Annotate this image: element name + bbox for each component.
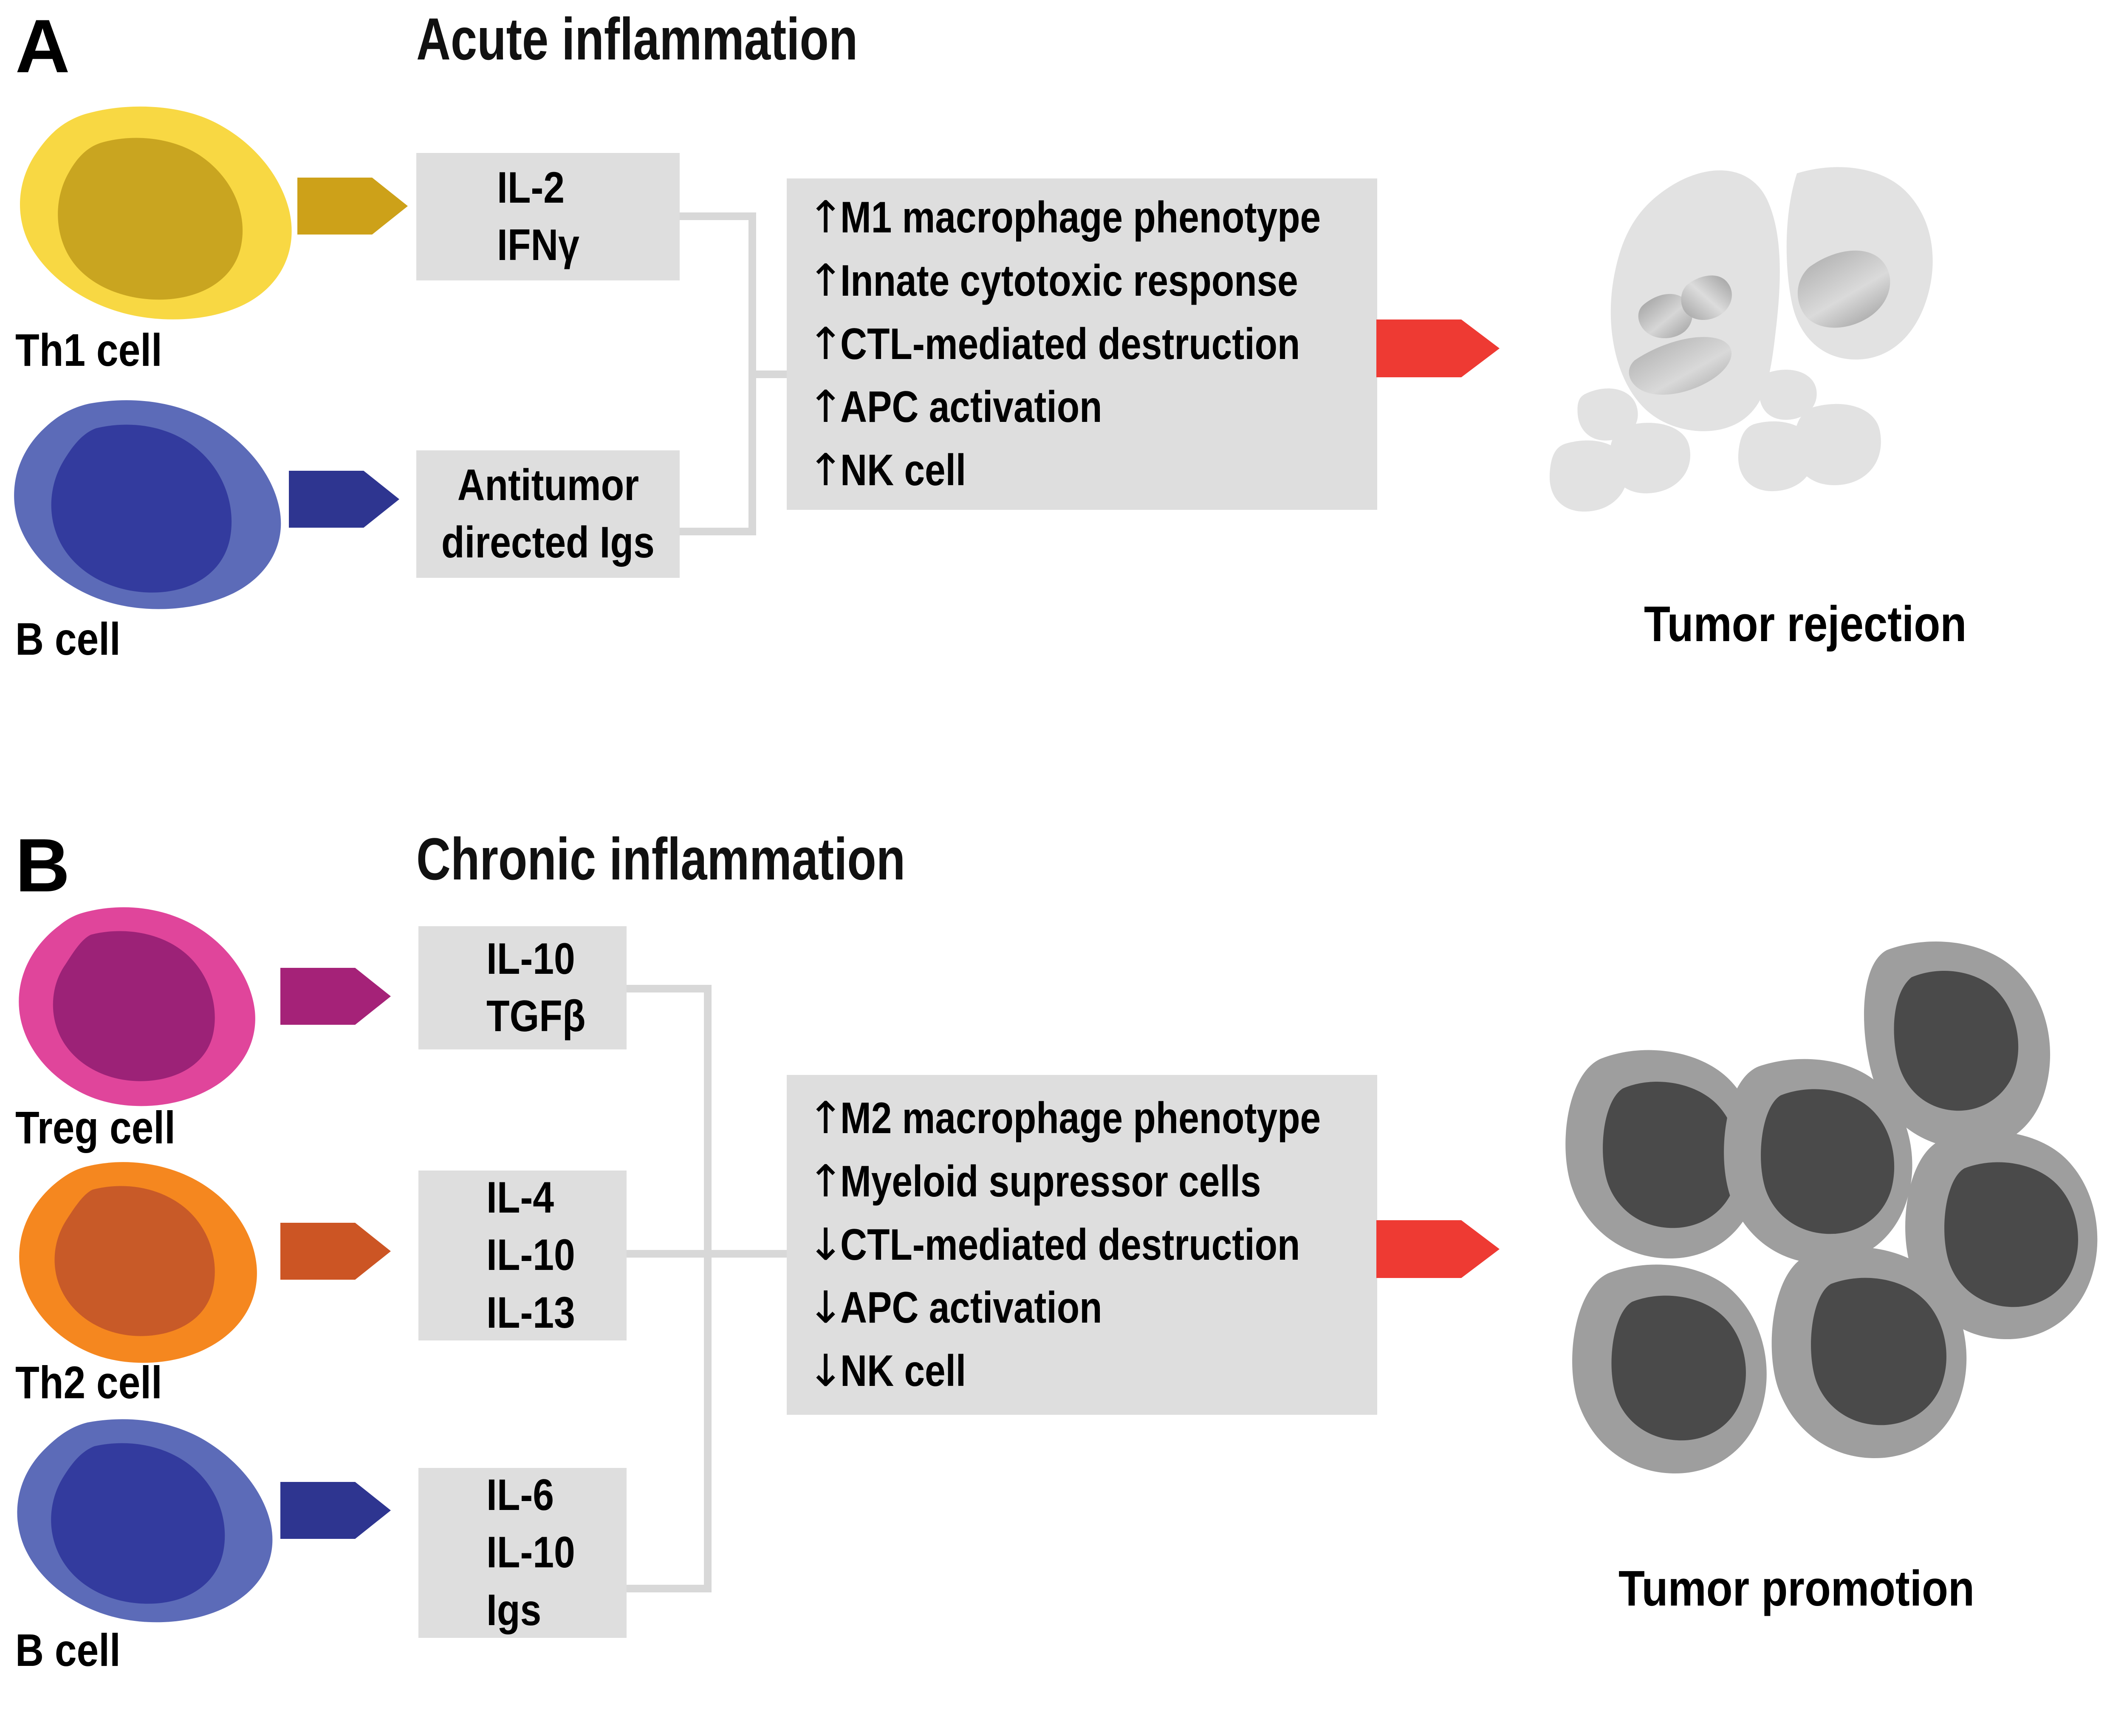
effect-row: ↑ CTL-mediated destruction <box>807 313 1377 376</box>
cytokine-box-th2: IL-4 IL-10 IL-13 <box>418 1171 627 1340</box>
panel-a: A Acute inflammation Th1 cell B cell IL-… <box>0 0 2124 807</box>
bcell-a-arrow <box>289 463 399 535</box>
cytokine-box-bcell-a: Antitumor directed Igs <box>416 450 680 578</box>
effect-row: ↑ Myeloid supressor cells <box>807 1150 1377 1213</box>
th2-arrow <box>280 1215 391 1287</box>
bcell-a-label: B cell <box>15 616 121 662</box>
cytokine-line: Antitumor <box>457 457 638 514</box>
effect-text: M2 macrophage phenotype <box>840 1087 1321 1150</box>
treg-cell-graphic <box>8 904 280 1108</box>
bcell-b-label: B cell <box>15 1627 121 1673</box>
th2-cell-graphic <box>8 1160 280 1364</box>
connector-bottom-horizontal <box>627 1585 712 1592</box>
cytokine-line: IL-2 <box>497 159 654 217</box>
up-arrow-icon: ↑ <box>807 1087 840 1150</box>
bcell-b-arrow <box>280 1474 391 1547</box>
effect-row: ↑ M2 macrophage phenotype <box>807 1087 1377 1150</box>
rejected-cell-fragment <box>1550 441 1628 512</box>
effect-row: ↓ APC activation <box>807 1276 1377 1340</box>
bcell-b-graphic <box>4 1415 293 1623</box>
panel-b-letter: B <box>15 828 69 903</box>
connector-middle-horizontal <box>627 1250 811 1258</box>
cytokine-line: IL-10 <box>486 1227 607 1284</box>
cytokine-line: TGFβ <box>486 988 607 1045</box>
up-arrow-icon: ↑ <box>807 376 840 438</box>
effect-row: ↑ NK cell <box>807 439 1377 502</box>
th1-cell-label: Th1 cell <box>15 327 162 373</box>
effect-row: ↓ NK cell <box>807 1340 1377 1403</box>
tumor-rejection-label: Tumor rejection <box>1644 599 1966 649</box>
bcell-a-graphic <box>4 395 302 616</box>
tumor-cell <box>1724 1059 1912 1264</box>
effect-text: NK cell <box>840 439 966 502</box>
effect-text: NK cell <box>840 1340 966 1403</box>
cytokine-box-bcell-b: IL-6 IL-10 Igs <box>418 1468 627 1638</box>
effect-row: ↓ CTL-mediated destruction <box>807 1213 1377 1277</box>
treg-arrow <box>280 960 391 1032</box>
connector-top-horizontal <box>627 985 712 992</box>
connector-vertical <box>748 212 756 535</box>
panel-a-title: Acute inflammation <box>416 9 858 69</box>
cytokine-box-th1: IL-2 IFNγ <box>416 153 680 280</box>
panel-a-letter: A <box>15 8 69 84</box>
rejected-cell-fragment <box>1794 404 1881 485</box>
th1-arrow <box>297 170 408 242</box>
effect-text: APC activation <box>840 1277 1102 1340</box>
effects-box-chronic: ↑ M2 macrophage phenotype ↑ Myeloid supr… <box>787 1075 1377 1415</box>
red-arrow-acute <box>1376 314 1504 382</box>
panel-b-title: Chronic inflammation <box>416 829 905 889</box>
effect-text: APC activation <box>840 376 1102 439</box>
cytokine-line: IFNγ <box>497 217 654 274</box>
down-arrow-icon: ↓ <box>807 1213 840 1276</box>
effect-text: CTL-mediated destruction <box>840 1214 1300 1277</box>
treg-cell-label: Treg cell <box>15 1105 175 1151</box>
connector-top-horizontal <box>680 212 756 220</box>
cytokine-line: IL-13 <box>486 1284 607 1342</box>
effect-row: ↑ Innate cytotoxic response <box>807 249 1377 313</box>
effect-text: M1 macrophage phenotype <box>840 187 1321 249</box>
tumor-promotion-label: Tumor promotion <box>1618 1564 1974 1614</box>
connector-bottom-horizontal <box>680 528 756 535</box>
up-arrow-icon: ↑ <box>807 313 840 376</box>
down-arrow-icon: ↓ <box>807 1276 840 1339</box>
effects-box-acute: ↑ M1 macrophage phenotype ↑ Innate cytot… <box>787 178 1377 510</box>
tumor-rejection-graphic <box>1529 140 2031 599</box>
down-arrow-icon: ↓ <box>807 1340 840 1402</box>
cytokine-line: directed Igs <box>441 514 655 571</box>
th2-cell-label: Th2 cell <box>15 1360 162 1405</box>
up-arrow-icon: ↑ <box>807 439 840 502</box>
up-arrow-icon: ↑ <box>807 249 840 312</box>
up-arrow-icon: ↑ <box>807 1150 840 1213</box>
effect-row: ↑ M1 macrophage phenotype <box>807 186 1377 249</box>
cytokine-line: IL-6 <box>486 1467 607 1524</box>
up-arrow-icon: ↑ <box>807 186 840 249</box>
tumor-promotion-graphic <box>1461 930 2124 1517</box>
cytokine-line: IL-4 <box>486 1169 607 1227</box>
connector-vertical <box>704 985 712 1592</box>
panel-b: B Chronic inflammation Treg cell Th2 cel… <box>0 807 2124 1736</box>
effect-text: Innate cytotoxic response <box>840 250 1298 313</box>
tumor-cell <box>1572 1264 1767 1473</box>
effect-row: ↑ APC activation <box>807 376 1377 439</box>
effect-text: Myeloid supressor cells <box>840 1151 1261 1213</box>
cytokine-box-treg: IL-10 TGFβ <box>418 926 627 1049</box>
th1-cell-graphic <box>8 102 306 323</box>
effect-text: CTL-mediated destruction <box>840 313 1300 376</box>
cytokine-line: IL-10 <box>486 930 607 988</box>
cytokine-line: Igs <box>486 1582 607 1639</box>
cytokine-line: IL-10 <box>486 1524 607 1581</box>
